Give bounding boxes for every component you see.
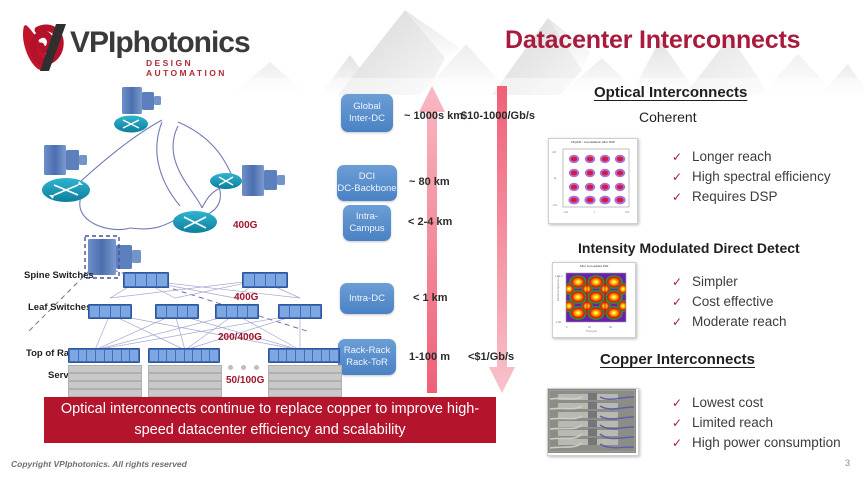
imdd-bullet-list: ✓ Simpler ✓ Cost effective ✓ Moderate re… <box>672 272 787 332</box>
distance-label-campus: < 2-4 km <box>408 216 452 228</box>
server-row <box>268 381 342 389</box>
switch-port <box>157 306 166 317</box>
check-icon: ✓ <box>672 413 683 433</box>
svg-text:-4.0: -4.0 <box>563 210 569 214</box>
check-icon: ✓ <box>672 187 683 207</box>
svg-text:4.0: 4.0 <box>552 150 557 154</box>
server-row <box>148 365 222 373</box>
list-item: ✓ Lowest cost <box>672 393 841 413</box>
tier-label: DCI DC-Backbone <box>337 171 396 195</box>
svg-text:0: 0 <box>566 325 568 329</box>
switch-port <box>188 306 197 317</box>
leaf-switch <box>278 304 322 319</box>
ellipsis-dot <box>228 365 233 370</box>
list-item: ✓ Longer reach <box>672 147 831 167</box>
tier-box-intra-dc: Intra-DC <box>340 283 394 314</box>
switch-port <box>227 306 236 317</box>
tor-switch <box>268 348 340 363</box>
datacenter-topology-diagram: 400G Spine Switches Leaf Switches Top of… <box>10 82 340 402</box>
server-row <box>68 365 142 373</box>
server-row <box>68 373 142 381</box>
list-item-label: Moderate reach <box>692 312 787 332</box>
switch-port <box>150 350 158 361</box>
summary-banner: Optical interconnects continue to replac… <box>44 397 496 443</box>
leaf-switch <box>215 304 259 319</box>
svg-text:Electrical Signal (a.u.): Electrical Signal (a.u.) <box>556 276 560 301</box>
spine-switch <box>123 272 169 288</box>
copyright-footer: Copyright VPIphotonics. All rights reser… <box>11 459 187 469</box>
page-title: Datacenter Interconnects <box>505 26 845 55</box>
svg-text:Q: Q <box>554 176 557 180</box>
server-row <box>268 389 342 397</box>
svg-text:40: 40 <box>609 325 612 329</box>
svg-text:-4.0: -4.0 <box>552 203 558 207</box>
speed-label-200-400g: 200/400G <box>218 332 262 343</box>
list-item-label: Longer reach <box>692 147 772 167</box>
switch-port <box>100 306 109 317</box>
ellipsis-dot <box>254 365 259 370</box>
copper-bullet-list: ✓ Lowest cost ✓ Limited reach ✓ High pow… <box>672 393 841 453</box>
server-row <box>148 389 222 397</box>
switch-port <box>311 306 320 317</box>
logo-word-photonics: photonics <box>115 26 249 59</box>
switch-port <box>70 350 78 361</box>
server-row <box>268 373 342 381</box>
check-icon: ✓ <box>672 167 683 187</box>
tier-box-global-inter-dc: Global Inter-DC <box>341 94 393 132</box>
switch-port <box>90 306 99 317</box>
switch-port <box>305 350 313 361</box>
copper-cable-photo-thumbnail <box>547 388 639 456</box>
list-item: ✓ High power consumption <box>672 433 841 453</box>
switch-port <box>130 350 138 361</box>
check-icon: ✓ <box>672 272 683 292</box>
distance-label-global: ~ 1000s km <box>404 110 463 122</box>
tier-label: Intra-DC <box>349 293 385 305</box>
list-item: ✓ Simpler <box>672 272 787 292</box>
distance-label-intradc: < 1 km <box>413 292 448 304</box>
list-item: ✓ High spectral efficiency <box>672 167 831 187</box>
switch-port <box>287 350 295 361</box>
list-item-label: Limited reach <box>692 413 773 433</box>
copper-cable-photo <box>548 389 636 453</box>
switch-port <box>322 350 330 361</box>
switch-port <box>280 306 289 317</box>
cost-label-bottom: <$1/Gb/s <box>468 351 514 363</box>
page-number: 3 <box>845 458 850 468</box>
switch-port <box>266 274 276 286</box>
check-icon: ✓ <box>672 147 683 167</box>
tor-switch <box>148 348 220 363</box>
coherent-heading: Coherent <box>639 109 697 125</box>
copper-interconnects-heading: Copper Interconnects <box>600 351 755 368</box>
server-row <box>68 381 142 389</box>
slide-canvas: VPIphotonics DESIGN AUTOMATION Datacente… <box>0 0 865 477</box>
list-item-label: Lowest cost <box>692 393 763 413</box>
switch-port <box>244 274 254 286</box>
list-item: ✓ Cost effective <box>672 292 787 312</box>
spine-switch <box>242 272 288 288</box>
logo-word-vpi: VPI <box>70 26 115 59</box>
logo-tagline: DESIGN AUTOMATION <box>146 58 278 78</box>
switch-port <box>330 350 338 361</box>
server-row <box>268 365 342 373</box>
optical-interconnects-heading: Optical Interconnects <box>594 84 747 101</box>
switch-port <box>111 306 120 317</box>
tier-box-rack-rack: Rack-Rack Rack-ToR <box>338 339 396 375</box>
svg-text:I: I <box>594 210 595 214</box>
list-item: ✓ Limited reach <box>672 413 841 433</box>
server-row <box>68 389 142 397</box>
switch-port <box>276 274 286 286</box>
switch-port <box>121 306 130 317</box>
switch-port <box>185 350 193 361</box>
switch-port <box>157 274 167 286</box>
coherent-bullet-list: ✓ Longer reach ✓ High spectral efficienc… <box>672 147 831 207</box>
cost-label-top: $10-1000/Gb/s <box>461 110 535 122</box>
switch-port <box>248 306 257 317</box>
switch-port <box>176 350 184 361</box>
list-item: ✓ Moderate reach <box>672 312 787 332</box>
switch-port <box>79 350 87 361</box>
list-item-label: Requires DSP <box>692 187 778 207</box>
switch-port <box>122 350 130 361</box>
switch-port <box>238 306 247 317</box>
speed-label-400g: 400G <box>234 292 258 303</box>
switch-port <box>270 350 278 361</box>
switch-port <box>96 350 104 361</box>
logo-wordmark: VPIphotonics <box>70 26 250 60</box>
switch-port <box>255 274 265 286</box>
switch-port <box>217 306 226 317</box>
constellation-diagram-thumbnail: 16QAM - Constellation after DSP 4.0 Q -4… <box>548 138 638 224</box>
tier-box-intra-campus: Intra- Campus <box>343 205 391 241</box>
switch-port <box>178 306 187 317</box>
leaf-switch <box>155 304 199 319</box>
switch-port <box>167 306 176 317</box>
distance-label-rack: 1-100 m <box>409 351 450 363</box>
tier-label: Global Inter-DC <box>349 101 385 125</box>
check-icon: ✓ <box>672 292 683 312</box>
server-row <box>148 373 222 381</box>
tier-label: Rack-Rack Rack-ToR <box>344 345 390 369</box>
constellation-plot: 4.0 Q -4.0 I -4.0 4.0 <box>549 145 635 217</box>
list-item-label: Simpler <box>692 272 738 292</box>
server-row <box>148 381 222 389</box>
list-item-label: High spectral efficiency <box>692 167 831 187</box>
switch-port <box>290 306 299 317</box>
switch-port <box>87 350 95 361</box>
svg-text:20: 20 <box>588 325 591 329</box>
eye-diagram-thumbnail: After zero-added FFE <box>552 262 636 338</box>
vpiphotonics-logo: VPIphotonics DESIGN AUTOMATION <box>18 20 278 76</box>
check-icon: ✓ <box>672 393 683 413</box>
leaf-switch <box>88 304 132 319</box>
tier-box-dci-dc-backbone: DCI DC-Backbone <box>337 165 397 201</box>
switch-port <box>159 350 167 361</box>
svg-text:4.0: 4.0 <box>625 210 630 214</box>
switch-port <box>279 350 287 361</box>
switch-port <box>125 274 135 286</box>
list-item: ✓ Requires DSP <box>672 187 831 207</box>
list-item-label: High power consumption <box>692 433 841 453</box>
svg-text:Time (ps): Time (ps) <box>586 329 597 333</box>
switch-port <box>147 274 157 286</box>
list-item-label: Cost effective <box>692 292 774 312</box>
eye-diagram-plot: 1.1E-3 Electrical Signal (a.u.) -1.0E 0 … <box>553 269 633 333</box>
switch-port <box>193 350 201 361</box>
switch-port <box>202 350 210 361</box>
switch-port <box>296 350 304 361</box>
logo-mark-icon <box>18 22 76 74</box>
check-icon: ✓ <box>672 433 683 453</box>
switch-port <box>167 350 175 361</box>
tier-label: Intra- Campus <box>349 211 384 235</box>
check-icon: ✓ <box>672 312 683 332</box>
summary-banner-text: Optical interconnects continue to replac… <box>54 399 486 441</box>
switch-port <box>136 274 146 286</box>
imdd-heading: Intensity Modulated Direct Detect <box>578 240 800 256</box>
distance-label-dci: ~ 80 km <box>409 176 450 188</box>
switch-port <box>113 350 121 361</box>
switch-port <box>301 306 310 317</box>
ellipsis-dot <box>241 365 246 370</box>
svg-text:-1.0E: -1.0E <box>555 320 561 324</box>
switch-port <box>210 350 218 361</box>
speed-label-50-100g: 50/100G <box>226 375 264 386</box>
switch-port <box>105 350 113 361</box>
tor-switch <box>68 348 140 363</box>
switch-port <box>313 350 321 361</box>
